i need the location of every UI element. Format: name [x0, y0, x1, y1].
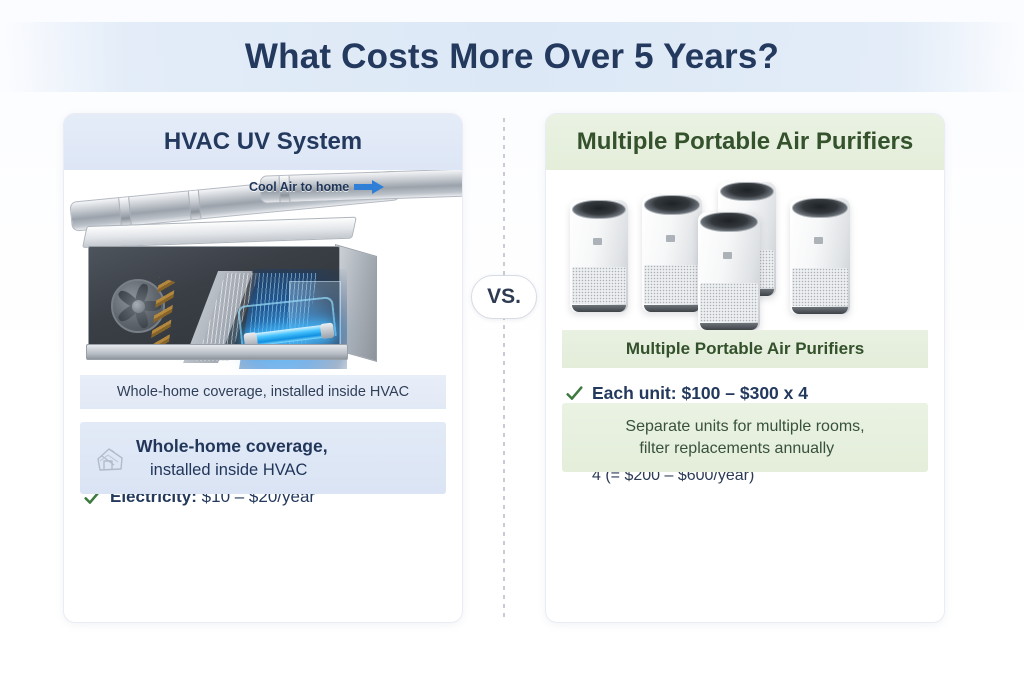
vs-badge: VS.	[471, 275, 537, 319]
purifiers-footer-text: Separate units for multiple rooms, filte…	[625, 416, 864, 459]
purifiers-caption-bar: Multiple Portable Air Purifiers	[562, 330, 928, 368]
cool-air-callout: Cool Air to home	[249, 180, 384, 194]
blue-right-arrow-icon	[354, 180, 384, 194]
hvac-card-body: Cool Air to home	[64, 170, 462, 508]
hvac-card-title: HVAC UV System	[164, 128, 362, 156]
five-portable-air-purifiers-illustration	[546, 170, 944, 330]
hvac-footer-line1: Whole-home coverage,	[136, 436, 328, 456]
air-purifier-unit	[698, 212, 760, 330]
hvac-caption-bar: Whole-home coverage, installed inside HV…	[80, 375, 446, 409]
air-purifier-unit	[642, 195, 702, 312]
list-item-label: Each unit:	[592, 383, 677, 403]
infographic-page: What Costs More Over 5 Years? HVAC UV Sy…	[0, 0, 1024, 683]
cool-air-label: Cool Air to home	[249, 180, 349, 194]
purifiers-caption-text: Multiple Portable Air Purifiers	[626, 339, 864, 359]
purifiers-footer-box: Separate units for multiple rooms, filte…	[562, 403, 928, 472]
air-purifier-unit	[790, 198, 850, 314]
vertical-dotted-divider	[503, 118, 505, 618]
hvac-card-header: HVAC UV System	[64, 114, 462, 170]
purifiers-card-title: Multiple Portable Air Purifiers	[577, 128, 914, 156]
hvac-footer-box: Whole-home coverage, installed inside HV…	[80, 422, 446, 494]
title-banner: What Costs More Over 5 Years?	[0, 22, 1024, 92]
portable-air-purifiers-card: Multiple Portable Air Purifiers	[545, 113, 945, 623]
purifiers-footer-line2: filter replacements annually	[625, 438, 864, 460]
home-sketch-icon	[94, 443, 126, 473]
purifiers-card-body: Multiple Portable Air Purifiers Each uni…	[546, 170, 944, 486]
hvac-footer-text: Whole-home coverage, installed inside HV…	[136, 435, 328, 481]
hvac-uv-system-card: HVAC UV System Cool Air to home	[63, 113, 463, 623]
list-item-value: $100 – $300 x 4	[681, 383, 808, 403]
purifiers-footer-line1: Separate units for multiple rooms,	[625, 418, 864, 435]
hvac-caption-text: Whole-home coverage, installed inside HV…	[117, 384, 409, 400]
air-purifier-unit	[570, 200, 628, 312]
cabinet-interior	[88, 246, 340, 354]
air-handler-cabinet	[82, 226, 372, 358]
vs-label: VS.	[487, 285, 521, 309]
check-icon	[566, 385, 583, 402]
hvac-footer-line2: installed inside HVAC	[136, 459, 328, 481]
hvac-uv-system-illustration: Cool Air to home	[64, 170, 462, 375]
page-title: What Costs More Over 5 Years?	[245, 37, 779, 77]
purifiers-card-header: Multiple Portable Air Purifiers	[546, 114, 944, 170]
cabinet-base-rail	[86, 344, 348, 360]
